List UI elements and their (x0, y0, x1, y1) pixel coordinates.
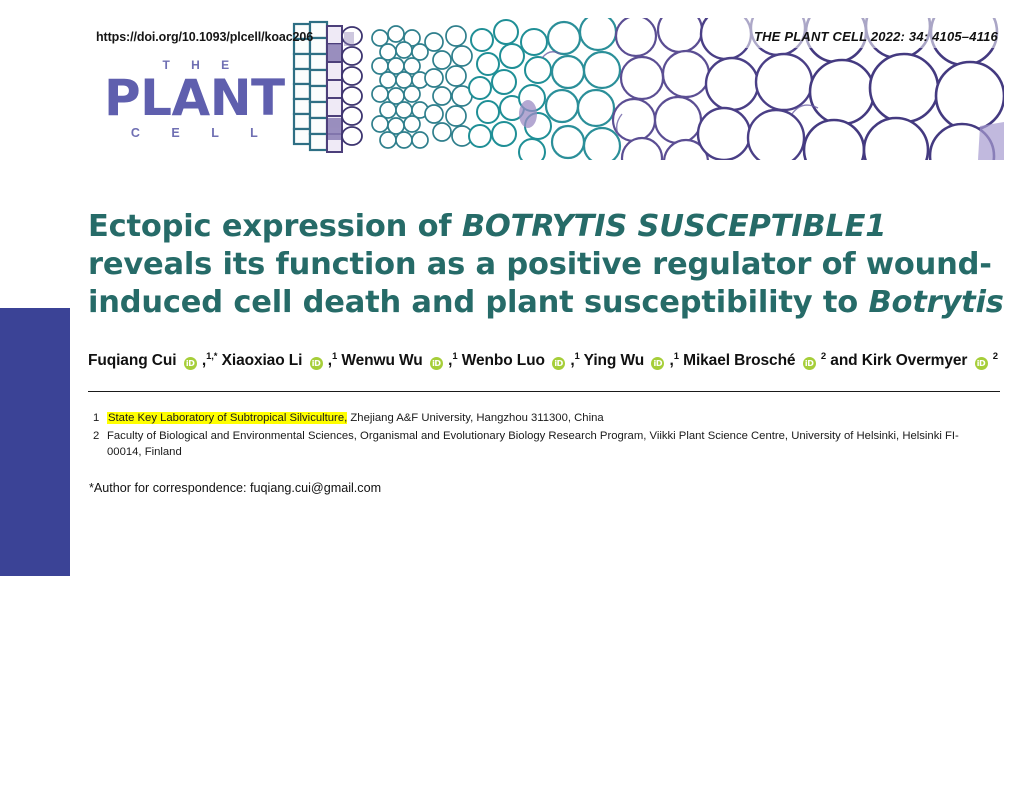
author-affiliation-marker: ,1 (665, 352, 683, 369)
author-name: Xiaoxiao Li (222, 352, 307, 369)
author-affiliation-marker: 2 (817, 352, 831, 369)
author-affiliation-marker: ,1 (444, 352, 462, 369)
affiliation-text: Faculty of Biological and Environmental … (107, 428, 993, 461)
orcid-icon[interactable]: iD (975, 357, 988, 370)
author-affiliation-marker: ,1,* (198, 352, 222, 369)
affiliation-list: 1State Key Laboratory of Subtropical Sil… (88, 410, 993, 461)
affiliation-number: 1 (88, 410, 107, 427)
author-affiliation-marker: ,1 (324, 352, 342, 369)
masthead: https://doi.org/10.1093/plcell/koac206 T… (0, 0, 1024, 170)
affiliation-item: 1State Key Laboratory of Subtropical Sil… (88, 410, 993, 427)
orcid-icon[interactable]: iD (430, 357, 443, 370)
doi-link[interactable]: https://doi.org/10.1093/plcell/koac206 (96, 30, 313, 44)
title-part-2: reveals its function as a positive regul… (88, 247, 992, 320)
orcid-icon[interactable]: iD (803, 357, 816, 370)
author-name: and Kirk Overmyer (830, 352, 971, 369)
title-gene-name: BOTRYTIS SUSCEPTIBLE1 (462, 209, 886, 244)
author-affiliation-marker: 2 (989, 352, 998, 369)
author-name: Wenwu Wu (341, 352, 427, 369)
orcid-icon[interactable]: iD (184, 357, 197, 370)
journal-logo: T H E PLANT C E L L (104, 58, 285, 142)
page-title: Ectopic expression of BOTRYTIS SUSCEPTIB… (88, 208, 1006, 322)
highlighted-text: State Key Laboratory of Subtropical Silv… (107, 412, 347, 424)
article-header: Ectopic expression of BOTRYTIS SUSCEPTIB… (88, 208, 1000, 495)
orcid-icon[interactable]: iD (651, 357, 664, 370)
author-name: Fuqiang Cui (88, 352, 181, 369)
research-article-tab: Research Article (0, 308, 70, 576)
author-list: Fuqiang Cui iD ,1,* Xiaoxiao Li iD ,1 We… (88, 344, 1006, 373)
author-name: Ying Wu (584, 352, 649, 369)
author-name: Wenbo Luo (462, 352, 549, 369)
logo-line-plant: PLANT (104, 72, 285, 124)
article-first-page: https://doi.org/10.1093/plcell/koac206 T… (0, 0, 1024, 576)
correspondence-line[interactable]: *Author for correspondence: fuqiang.cui@… (88, 481, 1000, 495)
orcid-icon[interactable]: iD (310, 357, 323, 370)
research-article-label: Research Article (0, 562, 70, 802)
affiliation-item: 2Faculty of Biological and Environmental… (88, 428, 993, 461)
affiliation-text: State Key Laboratory of Subtropical Silv… (107, 410, 993, 427)
title-part-1: Ectopic expression of (88, 209, 462, 244)
author-affiliation-marker: ,1 (566, 352, 584, 369)
orcid-icon[interactable]: iD (552, 357, 565, 370)
author-name: Mikael Brosché (683, 352, 800, 369)
logo-line-cell: C E L L (104, 124, 285, 142)
divider (88, 391, 1000, 392)
journal-reference: THE PLANT CELL 2022: 34: 4105–4116 (754, 29, 998, 44)
title-species-name: Botrytis (868, 285, 1003, 320)
affiliation-number: 2 (88, 428, 107, 445)
